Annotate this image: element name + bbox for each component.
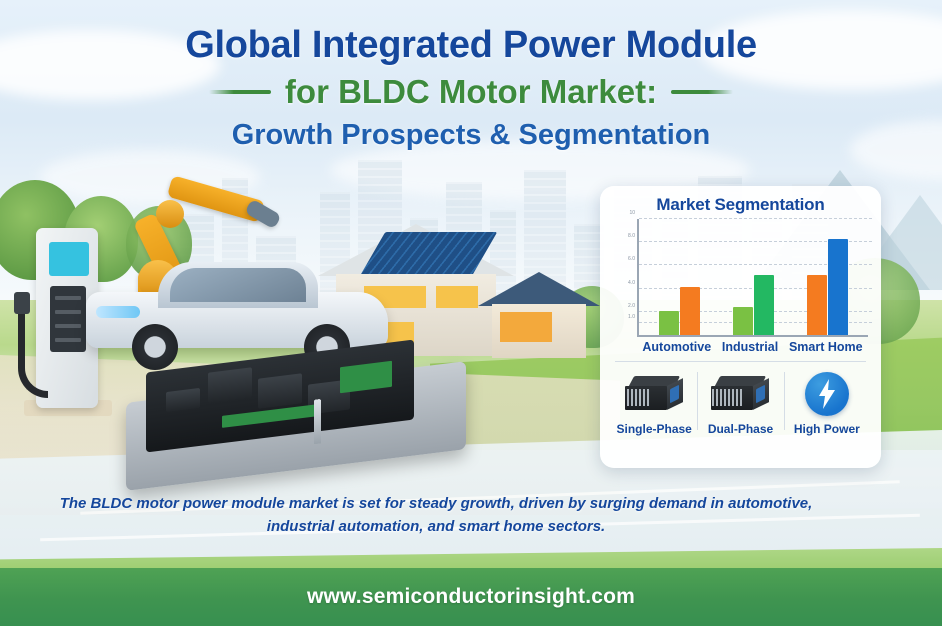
robot-joint	[156, 200, 184, 228]
power-chip	[258, 373, 302, 408]
power-chip	[166, 388, 200, 412]
icon-label-high-power: High Power	[784, 422, 870, 436]
charger-display	[49, 242, 89, 276]
title-block: Global Integrated Power Module for BLDC …	[0, 22, 942, 154]
bar-group	[807, 219, 848, 335]
website-url[interactable]: www.semiconductorinsight.com	[307, 585, 635, 609]
y-axis-tick-label: 2.0	[628, 303, 635, 309]
x-axis-label-automotive: Automotive	[642, 340, 711, 354]
car-windshield	[170, 268, 306, 302]
icon-label-dual-phase: Dual-Phase	[697, 422, 783, 436]
bar-chart-plot: 1.02.04.06.08.010	[637, 219, 868, 337]
integrated-power-module-board	[126, 348, 466, 478]
y-axis-tick-label: 4.0	[628, 280, 635, 286]
y-axis-tick-label: 8.0	[628, 233, 635, 239]
icon-label-single-phase: Single-Phase	[611, 422, 697, 436]
x-axis-label-industrial: Industrial	[722, 340, 778, 354]
chart-bar	[680, 287, 700, 335]
icon-cell-dual-phase[interactable]: Dual-Phase	[697, 368, 783, 436]
card-divider	[615, 361, 866, 362]
chart-bars	[639, 219, 868, 335]
house-window	[436, 286, 478, 308]
y-axis-tick-label: 1.0	[628, 314, 635, 320]
charging-plug	[14, 292, 30, 314]
infographic-poster: Global Integrated Power Module for BLDC …	[0, 0, 942, 626]
power-chip	[208, 367, 252, 402]
chart-x-axis-labels: AutomotiveIndustrialSmart Home	[637, 340, 868, 354]
chart-bar	[754, 275, 774, 335]
title-rule-right-icon	[671, 90, 733, 94]
icon-cell-single-phase[interactable]: Single-Phase	[611, 368, 697, 436]
icon-cell-high-power[interactable]: High Power	[784, 368, 870, 436]
market-segmentation-card: Market Segmentation 1.02.04.06.08.010 Au…	[600, 186, 881, 468]
title-line-1: Global Integrated Power Module	[0, 22, 942, 68]
house-roof	[478, 272, 600, 306]
house-window	[500, 312, 552, 342]
title-line-2-row: for BLDC Motor Market:	[0, 72, 942, 112]
footer-bar: www.semiconductorinsight.com	[0, 568, 942, 626]
chart-bar	[659, 311, 679, 335]
bar-group	[659, 219, 700, 335]
title-line-2: for BLDC Motor Market:	[285, 72, 657, 112]
title-line-3: Growth Prospects & Segmentation	[0, 116, 942, 154]
charger-keypad	[50, 286, 86, 352]
x-axis-label-smart-home: Smart Home	[789, 340, 863, 354]
title-rule-left-icon	[209, 90, 271, 94]
chart-bar	[733, 307, 753, 335]
lightning-bolt-icon	[784, 368, 870, 420]
y-axis-tick-label: 10	[629, 210, 635, 216]
smart-home-house	[478, 272, 600, 358]
caption-text: The BLDC motor power module market is se…	[56, 492, 816, 538]
chart-bar	[807, 275, 827, 335]
chart-title: Market Segmentation	[611, 195, 870, 215]
bar-group	[733, 219, 774, 335]
power-module-single-phase-icon	[611, 368, 697, 420]
module-type-icons: Single-Phase Dual-Phase	[611, 368, 870, 436]
power-module-dual-phase-icon	[697, 368, 783, 420]
charging-cable	[18, 300, 48, 398]
caption-line-1: The BLDC motor power module market is se…	[60, 495, 724, 512]
chart-bar	[828, 239, 848, 335]
y-axis-tick-label: 6.0	[628, 256, 635, 262]
car-headlight	[96, 306, 140, 318]
